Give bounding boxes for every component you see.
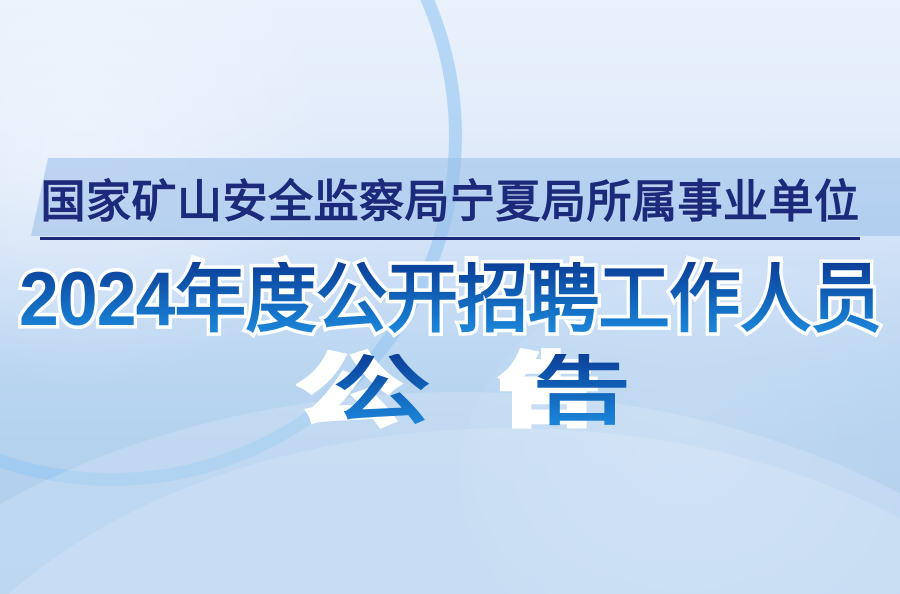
headline-row-primary: 2024年度公开招聘工作人员 2024年度公开招聘工作人员 xyxy=(0,262,900,348)
headline-block: 2024年度公开招聘工作人员 2024年度公开招聘工作人员 公 告 公 告 xyxy=(0,262,900,442)
title-divider-rule xyxy=(40,237,860,240)
headline-primary-text: 2024年度公开招聘工作人员 xyxy=(19,262,881,338)
headline-primary: 2024年度公开招聘工作人员 2024年度公开招聘工作人员 xyxy=(19,262,881,338)
announcement-poster: 国家矿山安全监察局宁夏局所属事业单位 2024年度公开招聘工作人员 2024年度… xyxy=(0,0,900,594)
headline-row-secondary: 公 告 公 告 xyxy=(0,354,900,442)
organization-line: 国家矿山安全监察局宁夏局所属事业单位 xyxy=(0,158,900,236)
headline-secondary: 公 告 公 告 xyxy=(300,354,600,430)
headline-secondary-text: 公 告 xyxy=(333,354,633,430)
bottom-sweeping-arc-secondary-decoration xyxy=(0,428,900,594)
